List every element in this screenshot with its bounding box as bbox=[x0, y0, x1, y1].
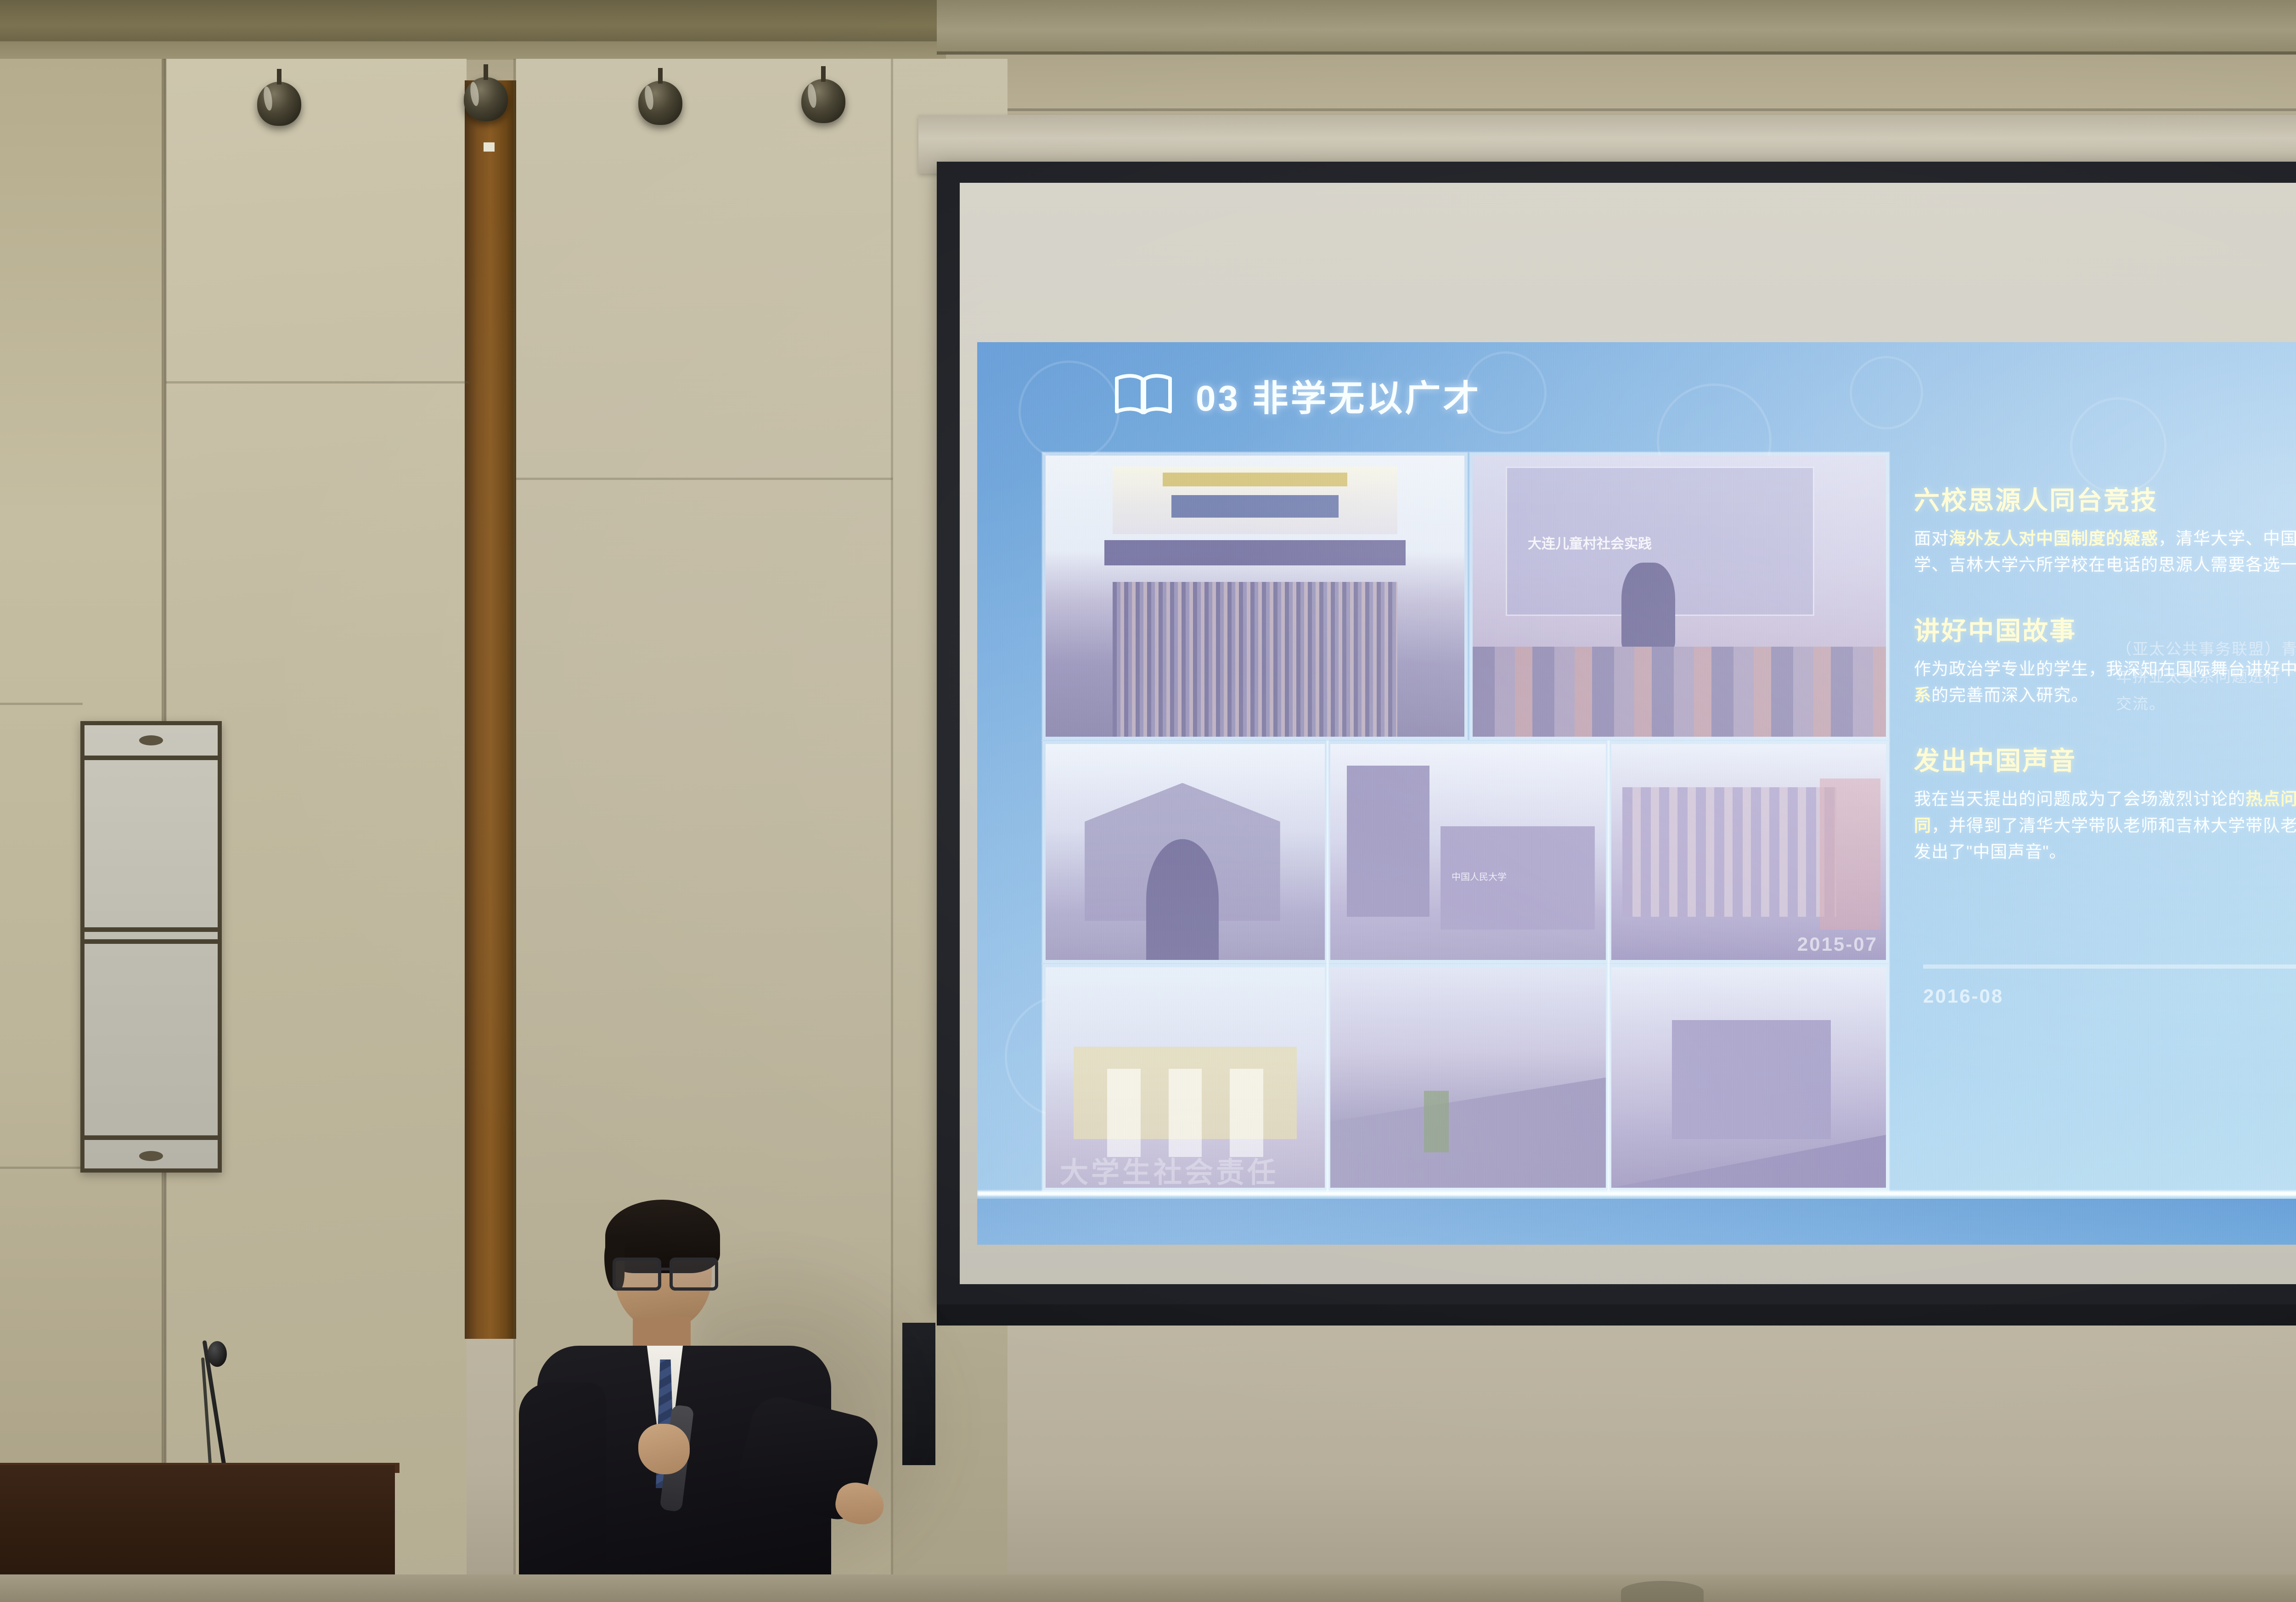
photo-colonnade-building: 2015-07 bbox=[1608, 741, 1889, 963]
red-pillar bbox=[1820, 778, 1880, 930]
watermark-circle-5 bbox=[2070, 397, 2167, 494]
ceiling-seam-2 bbox=[937, 108, 2296, 111]
photo-inner-caption: 大连儿童村社会实践 bbox=[1522, 529, 1886, 556]
ceiling-spotlight-stem-4 bbox=[821, 66, 826, 82]
ceiling-panel-right bbox=[937, 0, 2296, 54]
projected-slide: 03 非学无以广才 共青团吉林大学委员会 ★ ★ ★ ★ 吉林大学 共青团委 J… bbox=[977, 342, 2296, 1245]
side-note-1: （亚太公共事务联盟）青 bbox=[2116, 636, 2296, 664]
campus-highrise bbox=[1347, 766, 1429, 917]
eyeglasses-right-lens bbox=[670, 1258, 718, 1291]
wall-seam-h2 bbox=[0, 1167, 83, 1169]
ceiling-spotlight-4 bbox=[801, 79, 845, 123]
section-1-heading: 六校思源人同台竞技 bbox=[1914, 480, 2296, 517]
sconce-band-mid bbox=[84, 927, 218, 932]
crowd-of-people bbox=[1113, 582, 1397, 737]
slide-title-block: 03 非学无以广才 bbox=[1115, 370, 1481, 421]
slide-side-notes: （亚太公共事务联盟）青 年拼亚太关系问题进行 交流。 bbox=[2116, 636, 2296, 718]
photo-collage: 大连儿童村社会实践 中国人民大学 2015-07 bbox=[1042, 452, 1883, 1187]
slide-bottom-rule bbox=[977, 1191, 2296, 1196]
section-1-body: 面对海外友人对中国制度的疑惑，清华大学、中国人民大学、复旦大学、中山大学、厦门大… bbox=[1914, 525, 2296, 578]
presenter-left-hand bbox=[638, 1424, 690, 1474]
ceiling-beam-left-lower bbox=[0, 41, 946, 60]
sconce-band-top bbox=[84, 756, 218, 760]
ceiling-beam-left bbox=[0, 0, 946, 42]
side-note-2: 年拼亚太关系问题进行 bbox=[2116, 664, 2296, 691]
lecture-hall-photo: ThreeStars 03 非学无以广才 共青团吉林大学委员会 ★ ★ bbox=[0, 0, 2296, 1602]
ceiling-spotlight-1 bbox=[257, 82, 301, 126]
eyeglasses-left-lens bbox=[613, 1258, 661, 1291]
slide-section-1: 六校思源人同台竞技 面对海外友人对中国制度的疑惑，清华大学、中国人民大学、复旦大… bbox=[1914, 480, 2296, 578]
wall-sconce-light bbox=[80, 721, 222, 1173]
slide-title-text: 03 非学无以广才 bbox=[1196, 370, 1481, 421]
photo-date-2015: 2015-07 bbox=[1797, 933, 1878, 955]
archway-arch bbox=[1146, 839, 1219, 960]
photo-lecture-speaker: 大连儿童村社会实践 bbox=[1469, 452, 1889, 740]
gate-banner-blue bbox=[1171, 495, 1339, 518]
sconce-band-bottom bbox=[84, 1135, 218, 1140]
arch-opening-2 bbox=[1169, 1069, 1202, 1157]
audience-row bbox=[1473, 647, 1886, 737]
section-3-body: 我在当天提出的问题成为了会场激烈讨论的热点问题，我的阐释得到了在美华人的高度认同… bbox=[1914, 786, 2296, 865]
wood-pilaster-highlight bbox=[484, 142, 495, 152]
s3-p1: 热点问题 bbox=[2245, 790, 2296, 808]
section-3-heading: 发出中国声音 bbox=[1914, 740, 2296, 778]
s1-p0: 面对 bbox=[1914, 529, 1949, 548]
building-name-text: 中国人民大学 bbox=[1452, 869, 1507, 883]
ceiling-seam-1 bbox=[937, 51, 2296, 55]
wood-pilaster bbox=[465, 80, 516, 1339]
speaker-silhouette bbox=[1621, 563, 1675, 653]
ceiling-spotlight-2 bbox=[464, 77, 508, 121]
photo-campus-archway bbox=[1042, 741, 1328, 963]
ceiling-spotlight-stem-2 bbox=[484, 64, 488, 80]
slide-footer-band bbox=[977, 1199, 2296, 1245]
ceiling-spotlight-stem-1 bbox=[277, 69, 281, 85]
sconce-knob-bottom bbox=[139, 1151, 163, 1161]
wall-seam-h1 bbox=[0, 703, 83, 705]
timeline-date-2016: 2016-08 bbox=[1923, 985, 2003, 1007]
photo-renmin-university: 中国人民大学 bbox=[1327, 741, 1609, 963]
s2-p2: 的完善而深入研究。 bbox=[1931, 686, 2088, 705]
microphone-capsule-icon bbox=[208, 1341, 227, 1367]
timeline-arrow-line bbox=[1923, 965, 2296, 969]
s1-p1: 海外友人对中国制度的疑惑 bbox=[1949, 529, 2158, 548]
ceiling-spotlight-stem-3 bbox=[658, 68, 663, 84]
presenter bbox=[514, 1208, 872, 1602]
open-book-icon bbox=[1115, 374, 1172, 417]
s3-p0: 我在当天提出的问题成为了会场激烈讨论的 bbox=[1914, 790, 2245, 808]
roadside-tree bbox=[1424, 1091, 1449, 1152]
sconce-knob-top bbox=[139, 735, 163, 745]
eyeglasses-icon bbox=[613, 1258, 718, 1286]
presenter-left-arm bbox=[519, 1382, 606, 1602]
slide-overlay-text: 大学生社会责任 bbox=[1060, 1149, 2296, 1190]
slide-section-3: 发出中国声音 我在当天提出的问题成为了会场激烈讨论的热点问题，我的阐释得到了在美… bbox=[1914, 740, 2296, 865]
arch-opening-1 bbox=[1107, 1069, 1141, 1157]
arch-opening-3 bbox=[1230, 1069, 1263, 1157]
eyeglasses-bridge bbox=[655, 1268, 670, 1270]
sconce-band-mid2 bbox=[84, 939, 218, 944]
gate-roof-eave bbox=[1104, 540, 1406, 565]
s3-p4: ，并得到了清华大学带队老师和吉林大学带队老师的高度评价。我很荣幸，代表吉大思源发… bbox=[1914, 816, 2296, 861]
modern-building-block bbox=[1672, 1020, 1831, 1139]
wall-seam-h4 bbox=[516, 478, 893, 480]
gate-banner-gold bbox=[1163, 473, 1347, 487]
watermark-circle-4 bbox=[1850, 356, 1923, 429]
projector-screen-bottom-bar bbox=[937, 1304, 2296, 1326]
floor-strip bbox=[0, 1574, 2296, 1602]
photo-group-university-gate bbox=[1042, 452, 1468, 740]
wall-seam-h3 bbox=[166, 381, 469, 384]
floor-object bbox=[1621, 1581, 1704, 1602]
ceiling-spotlight-3 bbox=[638, 81, 682, 125]
watermark-circle-1 bbox=[1019, 361, 1120, 462]
colonnade-columns bbox=[1622, 787, 1836, 917]
side-note-3: 交流。 bbox=[2116, 691, 2296, 718]
